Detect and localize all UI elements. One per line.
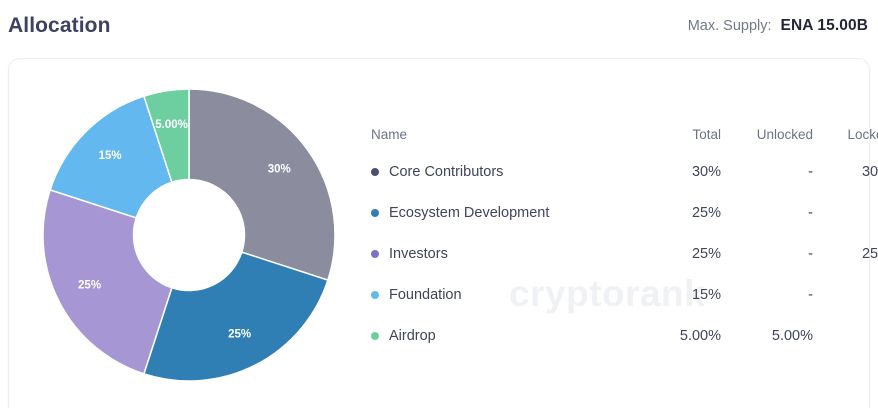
allocation-donut-chart: 30%25%25%15%5.00% xyxy=(41,87,337,383)
allocation-card: cryptorank 30%25%25%15%5.00% Name Total … xyxy=(8,58,870,408)
max-supply-label: Max. Supply: xyxy=(688,18,772,34)
cell-unlocked: - xyxy=(721,287,813,303)
table-body: Core Contributors30%-30%Ecosystem Develo… xyxy=(371,151,855,356)
cell-unlocked: - xyxy=(721,246,813,262)
cell-total: 30% xyxy=(647,164,721,180)
column-header-locked[interactable]: Locked xyxy=(813,127,878,142)
donut-slice-label: 30% xyxy=(268,163,291,175)
legend-dot-icon xyxy=(371,250,379,258)
cell-total: 5.00% xyxy=(647,328,721,344)
table-row[interactable]: Ecosystem Development25%-- xyxy=(371,192,855,233)
allocation-name-label: Ecosystem Development xyxy=(389,205,549,221)
table-header: Name Total Unlocked Locked xyxy=(371,117,855,151)
cell-locked: - xyxy=(813,328,878,344)
table-row[interactable]: Core Contributors30%-30% xyxy=(371,151,855,192)
allocation-table: Name Total Unlocked Locked Core Contribu… xyxy=(371,117,855,356)
column-header-unlocked[interactable]: Unlocked xyxy=(721,127,813,142)
donut-slice-label: 25% xyxy=(78,280,101,292)
legend-dot-icon xyxy=(371,168,379,176)
cell-locked: 25% xyxy=(813,246,878,262)
cell-unlocked: - xyxy=(721,164,813,180)
table-row[interactable]: Airdrop5.00%5.00%- xyxy=(371,315,855,356)
donut-slice[interactable] xyxy=(189,89,335,280)
max-supply-value: ENA 15.00B xyxy=(781,17,868,35)
donut-slice-label: 5.00% xyxy=(155,119,188,131)
cell-total: 25% xyxy=(647,246,721,262)
legend-dot-icon xyxy=(371,291,379,299)
donut-slice-label: 15% xyxy=(99,150,122,162)
legend-dot-icon xyxy=(371,332,379,340)
max-supply: Max. Supply: ENA 15.00B xyxy=(688,17,868,35)
cell-locked: - xyxy=(813,287,878,303)
cell-unlocked: 5.00% xyxy=(721,328,813,344)
allocation-name-label: Foundation xyxy=(389,287,462,303)
cell-name: Airdrop xyxy=(371,328,647,344)
cell-name: Core Contributors xyxy=(371,164,647,180)
cell-total: 15% xyxy=(647,287,721,303)
donut-slice[interactable] xyxy=(43,190,172,374)
table-header-row: Name Total Unlocked Locked xyxy=(371,117,855,151)
legend-dot-icon xyxy=(371,209,379,217)
column-header-total[interactable]: Total xyxy=(647,127,721,142)
column-header-name[interactable]: Name xyxy=(371,127,647,142)
table-row[interactable]: Foundation15%-- xyxy=(371,274,855,315)
donut-svg: 30%25%25%15%5.00% xyxy=(41,87,337,383)
table-row[interactable]: Investors25%-25% xyxy=(371,233,855,274)
cell-locked: 30% xyxy=(813,164,878,180)
allocation-name-label: Airdrop xyxy=(389,328,436,344)
page-title: Allocation xyxy=(8,14,111,38)
donut-slice[interactable] xyxy=(144,252,328,381)
allocation-page: Allocation Max. Supply: ENA 15.00B crypt… xyxy=(0,0,878,408)
cell-total: 25% xyxy=(647,205,721,221)
page-header: Allocation Max. Supply: ENA 15.00B xyxy=(0,0,878,52)
cell-unlocked: - xyxy=(721,205,813,221)
cell-name: Investors xyxy=(371,246,647,262)
allocation-name-label: Investors xyxy=(389,246,448,262)
cell-name: Ecosystem Development xyxy=(371,205,647,221)
donut-slice-label: 25% xyxy=(228,328,251,340)
cell-name: Foundation xyxy=(371,287,647,303)
cell-locked: - xyxy=(813,205,878,221)
allocation-name-label: Core Contributors xyxy=(389,164,503,180)
